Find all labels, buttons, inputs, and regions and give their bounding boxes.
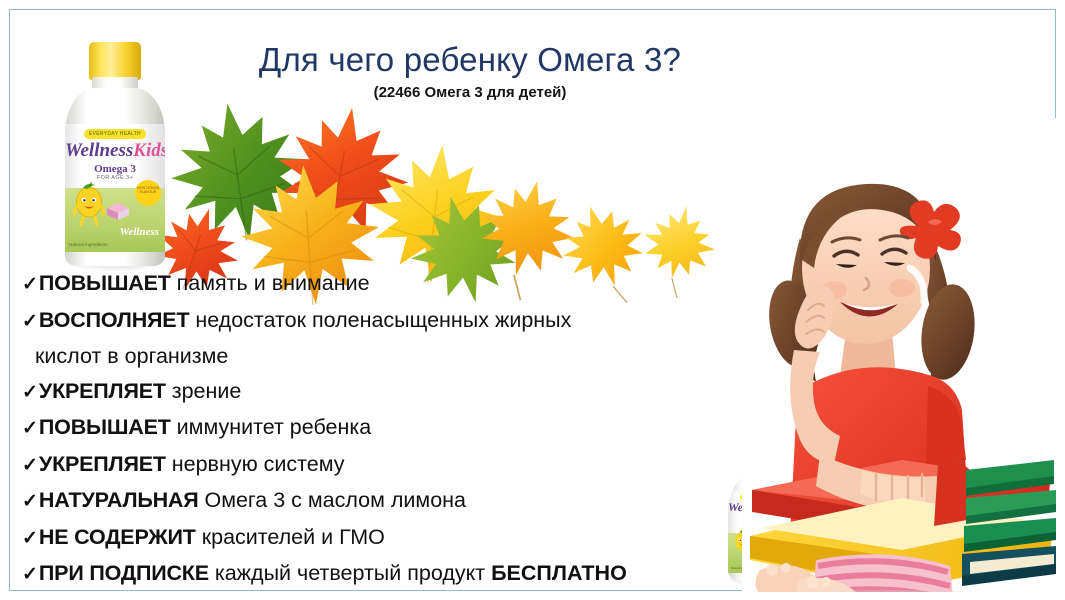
check-icon: ✓ (22, 564, 38, 585)
list-item-lead: НЕ СОДЕРЖИТ (39, 525, 196, 549)
list-item-lead: УКРЕПЛЯЕТ (39, 379, 166, 403)
list-item-rest: зрение (166, 379, 242, 403)
brand-kids-text: Kids (133, 140, 165, 161)
check-icon: ✓ (22, 311, 38, 332)
list-item: ✓ПОВЫШАЕТ иммунитет ребенка (22, 410, 752, 447)
check-icon: ✓ (22, 382, 38, 403)
list-item-rest: каждый четвертый продукт (209, 561, 491, 585)
bottle-product-name: Omega 3 (65, 163, 165, 175)
check-icon: ✓ (22, 528, 38, 549)
list-item-rest: нервную систему (166, 452, 345, 476)
list-item-continuation: кислот в организме (22, 339, 752, 374)
bottle-wellness-logo: Wellness (119, 226, 159, 238)
bottle-ingredients-text: Natural ingredients (69, 242, 108, 247)
girl-with-books-photo (742, 118, 1058, 592)
slide-canvas: EVERYDAY HEALTH WellnessKids Omega 3 FOR… (0, 0, 1065, 600)
flavour-burst-badge: NEW LEMON FLAVOUR (135, 180, 161, 206)
list-item: ✓ВОСПОЛНЯЕТ недостаток поленасыщенных жи… (22, 303, 752, 340)
check-icon: ✓ (22, 491, 38, 512)
bottle-body: EVERYDAY HEALTH WellnessKids Omega 3 FOR… (65, 88, 165, 266)
list-item-tail: БЕСПЛАТНО (491, 561, 627, 585)
everyday-health-badge: EVERYDAY HEALTH (84, 129, 146, 139)
list-item: ✓УКРЕПЛЯЕТ нервную систему (22, 447, 752, 484)
list-item-rest: Омега 3 с маслом лимона (199, 488, 467, 512)
list-item: ✓НЕ СОДЕРЖИТ красителей и ГМО (22, 520, 752, 557)
autumn-leaves-decoration (150, 95, 740, 270)
list-item: ✓ПРИ ПОДПИСКЕ каждый четвертый продукт Б… (22, 556, 752, 593)
benefits-list: ✓ПОВЫШАЕТ память и внимание ✓ВОСПОЛНЯЕТ … (22, 266, 752, 593)
lemon-mascot-icon (70, 180, 110, 231)
product-bottle-main: EVERYDAY HEALTH WellnessKids Omega 3 FOR… (56, 36, 174, 268)
brand-wellness-text: Wellness (65, 140, 133, 161)
bottle-cap (89, 42, 141, 80)
list-item: ✓УКРЕПЛЯЕТ зрение (22, 374, 752, 411)
bottle-label: EVERYDAY HEALTH WellnessKids Omega 3 FOR… (65, 124, 165, 252)
check-icon: ✓ (22, 418, 38, 439)
title-block: Для чего ребенку Омега 3? (22466 Омега 3… (160, 42, 780, 101)
list-item-rest: красителей и ГМО (196, 525, 385, 549)
list-item: ✓НАТУРАЛЬНАЯ Омега 3 с маслом лимона (22, 483, 752, 520)
list-item-lead: ПРИ ПОДПИСКЕ (39, 561, 209, 585)
list-item-lead: НАТУРАЛЬНАЯ (39, 488, 199, 512)
page-title: Для чего ребенку Омега 3? (160, 42, 780, 78)
list-item-lead: ПОВЫШАЕТ (39, 415, 171, 439)
list-item-rest: память и внимание (171, 271, 370, 295)
list-item-lead: ПОВЫШАЕТ (39, 271, 171, 295)
list-item: ✓ПОВЫШАЕТ память и внимание (22, 266, 752, 303)
list-item-rest: недостаток поленасыщенных жирных (189, 308, 571, 332)
product-carton-icon (105, 200, 131, 227)
check-icon: ✓ (22, 274, 38, 295)
bottle-brand-name: WellnessKids (65, 141, 165, 161)
page-subtitle: (22466 Омега 3 для детей) (160, 84, 780, 101)
list-item-lead: УКРЕПЛЯЕТ (39, 452, 166, 476)
list-item-rest: иммунитет ребенка (171, 415, 372, 439)
list-item-rest: кислот в организме (35, 344, 228, 368)
check-icon: ✓ (22, 455, 38, 476)
list-item-lead: ВОСПОЛНЯЕТ (39, 308, 189, 332)
